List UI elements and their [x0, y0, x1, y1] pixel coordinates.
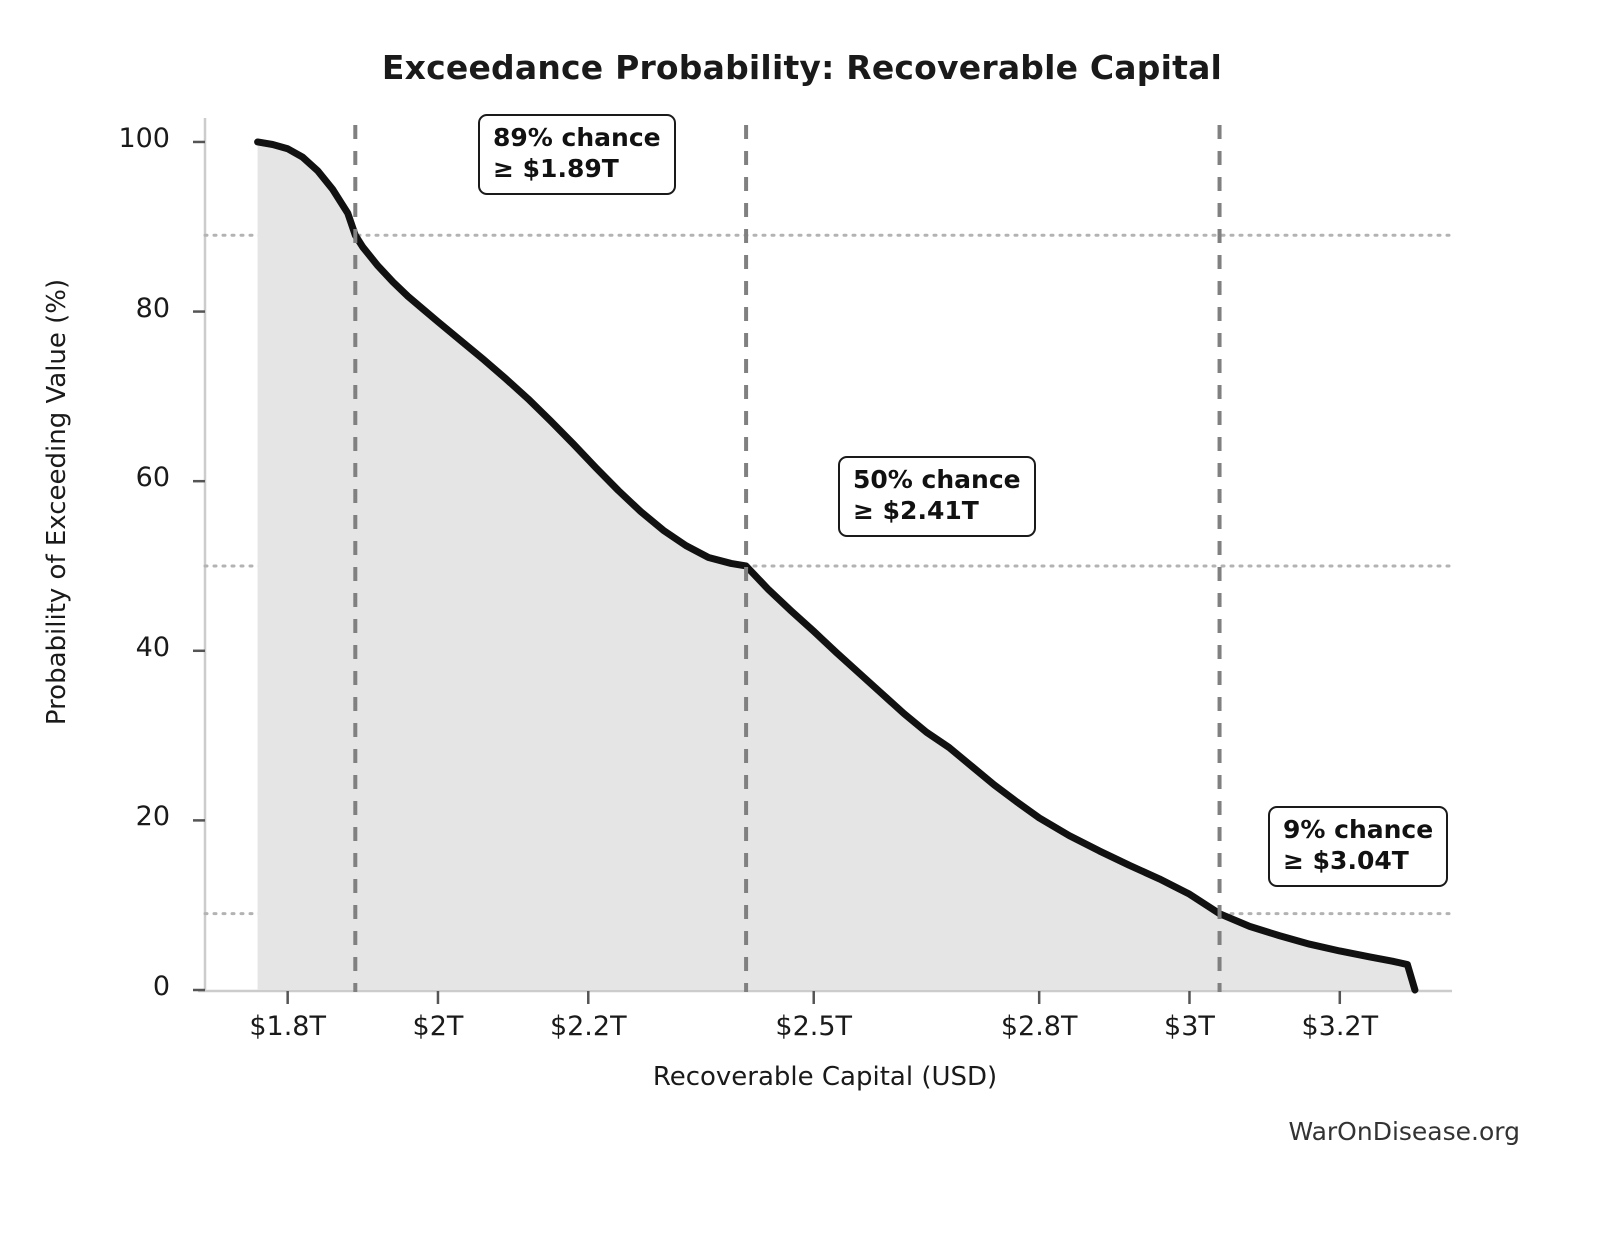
y-tick-label: 20 — [60, 801, 170, 832]
annotation-50-percent: 50% chance ≥ $2.41T — [838, 456, 1036, 537]
site-watermark: WarOnDisease.org — [1288, 1117, 1520, 1146]
x-tick-label: $2.5T — [714, 1011, 914, 1042]
y-tick-label: 100 — [60, 123, 170, 154]
annotation-2-line1: 9% chance — [1283, 815, 1433, 846]
annotation-1-line2: ≥ $2.41T — [853, 496, 1021, 527]
annotation-0-line1: 89% chance — [493, 123, 661, 154]
chart-figure: Exceedance Probability: Recoverable Capi… — [0, 0, 1604, 1234]
x-tick-label: $2.2T — [488, 1011, 688, 1042]
plot-canvas — [0, 0, 1604, 1234]
y-tick-label: 0 — [60, 971, 170, 1002]
y-tick-label: 80 — [60, 293, 170, 324]
annotation-1-line1: 50% chance — [853, 465, 1021, 496]
annotation-2-line2: ≥ $3.04T — [1283, 846, 1433, 877]
annotation-0-line2: ≥ $1.89T — [493, 154, 661, 185]
x-tick-label: $3.2T — [1240, 1011, 1440, 1042]
y-tick-marks — [193, 142, 205, 990]
y-tick-label: 60 — [60, 462, 170, 493]
y-tick-label: 40 — [60, 632, 170, 663]
annotation-89-percent: 89% chance ≥ $1.89T — [478, 114, 676, 195]
x-tick-marks — [288, 991, 1340, 1004]
annotation-9-percent: 9% chance ≥ $3.04T — [1268, 806, 1448, 887]
